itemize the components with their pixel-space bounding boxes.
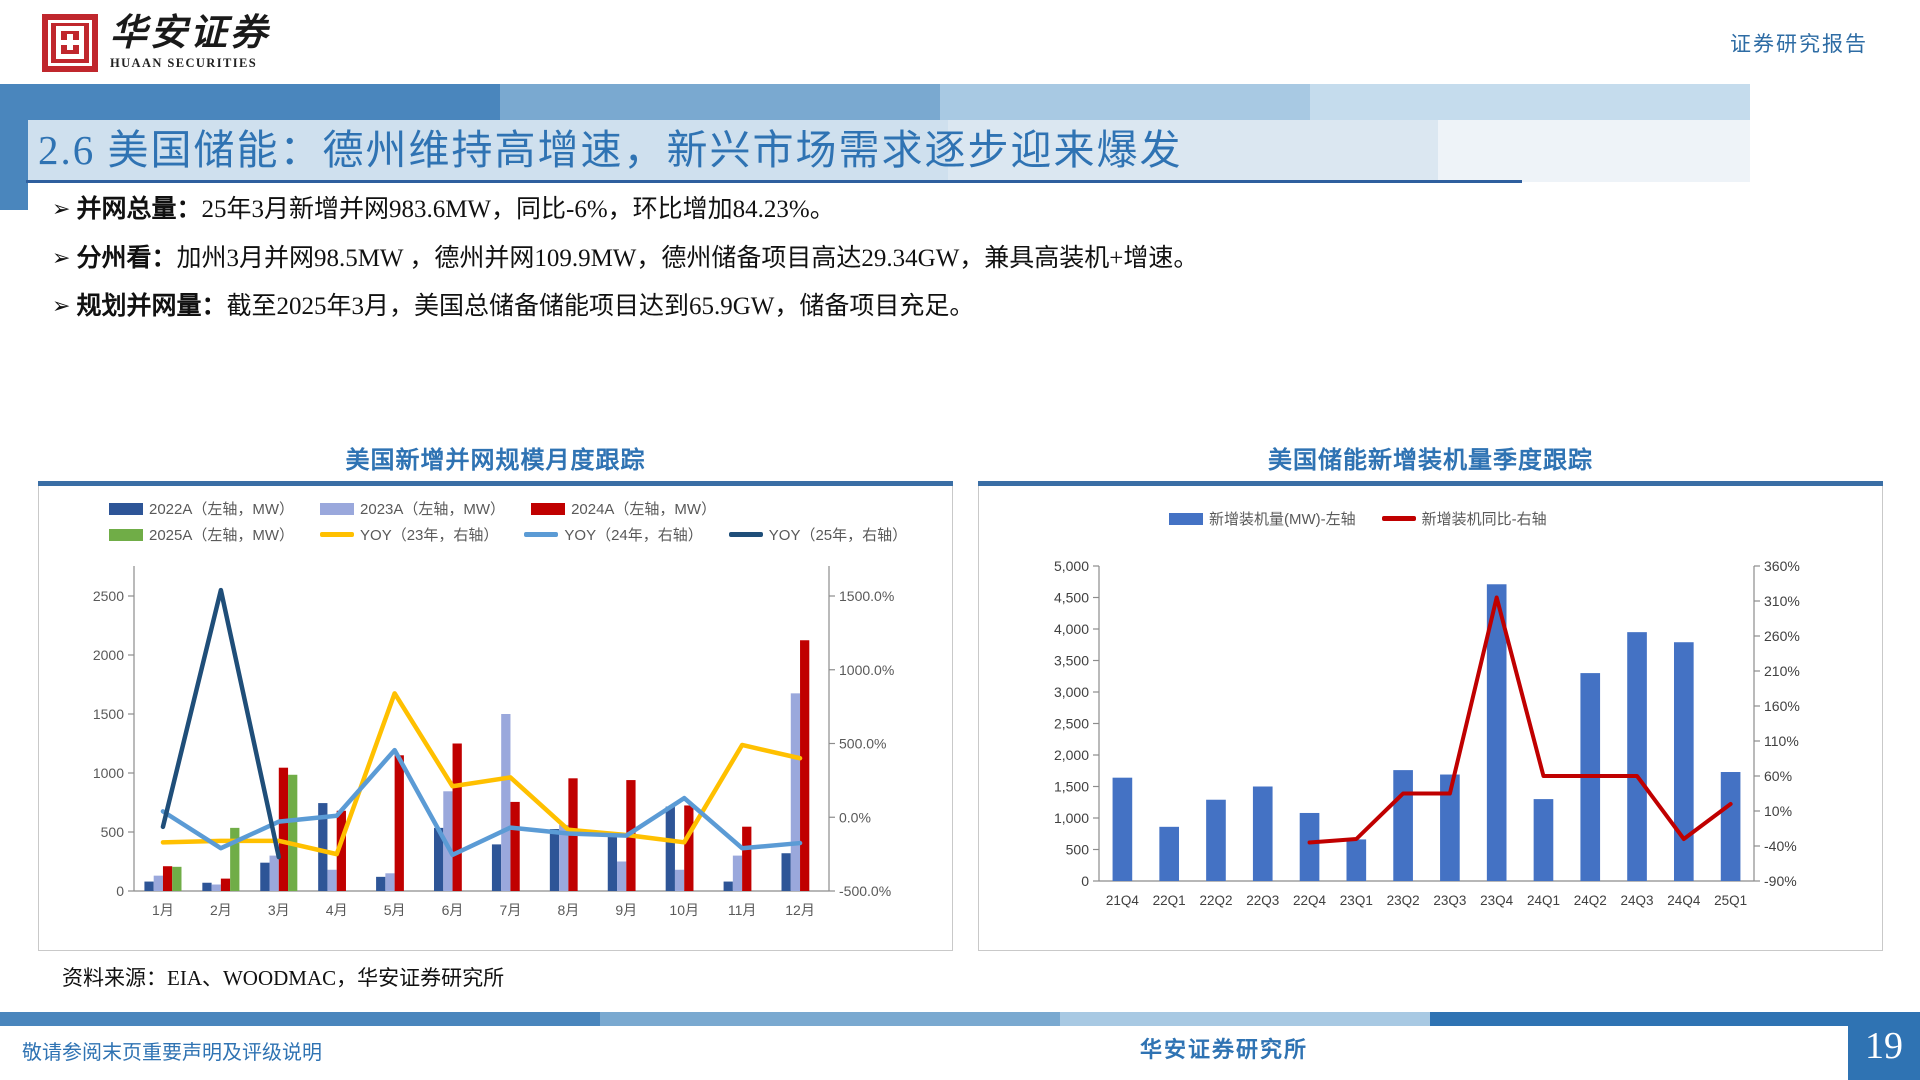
x-tick-label: 21Q4	[1106, 893, 1140, 908]
bar	[1674, 642, 1694, 881]
bar	[221, 879, 230, 891]
x-tick-label: 11月	[728, 902, 757, 918]
bar	[1721, 772, 1741, 881]
bar	[202, 883, 211, 891]
y2-tick-label: 60%	[1764, 768, 1792, 784]
x-tick-label: 24Q2	[1574, 893, 1607, 908]
bar	[270, 856, 279, 891]
y2-tick-label: -500.0%	[839, 883, 891, 899]
bar	[742, 827, 751, 891]
bar	[385, 873, 394, 891]
y2-tick-label: 110%	[1764, 733, 1799, 749]
bar	[288, 775, 297, 891]
bar	[260, 863, 269, 891]
bullet-text: 25年3月新增并网983.6MW，同比-6%，环比增加84.23%。	[201, 196, 834, 223]
x-tick-label: 22Q2	[1199, 893, 1232, 908]
y-tick-label: 500	[101, 824, 125, 840]
y-tick-label: 1,500	[1054, 779, 1089, 795]
y2-tick-label: 10%	[1764, 803, 1792, 819]
bar	[1206, 800, 1226, 881]
y2-tick-label: 210%	[1764, 663, 1800, 679]
x-tick-label: 22Q3	[1246, 893, 1279, 908]
bar	[230, 828, 239, 891]
bullet-label: 规划并网量：	[76, 293, 226, 320]
bar	[376, 877, 385, 891]
huaan-seal-icon	[42, 14, 98, 72]
bar	[144, 882, 153, 891]
bar	[1300, 813, 1320, 881]
chart-body-monthly: 2022A（左轴，MW）2023A（左轴，MW）2024A（左轴，MW）2025…	[38, 486, 953, 951]
y2-tick-label: -90%	[1764, 873, 1797, 889]
x-tick-label: 8月	[557, 902, 579, 918]
y-tick-label: 2500	[93, 588, 124, 604]
y2-tick-label: 500.0%	[839, 736, 886, 752]
page-number: 19	[1848, 1012, 1920, 1080]
brand-name-en: HUAAN SECURITIES	[110, 56, 270, 71]
bar	[163, 866, 172, 891]
bar	[1534, 799, 1554, 881]
y-tick-label: 2,000	[1054, 747, 1089, 763]
footer-company: 华安证券研究所	[1140, 1032, 1308, 1064]
bar	[791, 693, 800, 891]
y2-tick-label: -40%	[1764, 838, 1797, 854]
y-tick-label: 3,000	[1054, 684, 1089, 700]
bar	[327, 870, 336, 891]
bar	[608, 832, 617, 891]
chart-panel-monthly: 美国新增并网规模月度跟踪 2022A（左轴，MW）2023A（左轴，MW）202…	[38, 440, 953, 951]
chart-body-quarterly: 新增装机量(MW)-左轴新增装机同比-右轴 05001,0001,5002,00…	[978, 486, 1883, 951]
x-tick-label: 7月	[500, 902, 522, 918]
y-tick-label: 1000	[93, 765, 124, 781]
x-tick-label: 22Q4	[1293, 893, 1327, 908]
x-tick-label: 23Q3	[1433, 893, 1466, 908]
bar	[395, 755, 404, 891]
y-tick-label: 0	[1081, 873, 1089, 889]
x-tick-label: 3月	[268, 902, 290, 918]
chart-svg-monthly: 05001000150020002500-500.0%0.0%500.0%100…	[39, 486, 952, 949]
footer-disclaimer: 敬请参阅末页重要声明及评级说明	[22, 1036, 322, 1065]
x-tick-label: 5月	[384, 902, 406, 918]
source-note: 资料来源：EIA、WOODMAC，华安证券研究所	[62, 962, 504, 992]
y2-tick-label: 360%	[1764, 558, 1800, 574]
x-tick-label: 24Q3	[1621, 893, 1654, 908]
bar	[800, 640, 809, 891]
bar	[501, 714, 510, 891]
x-tick-label: 1月	[152, 902, 174, 918]
title-underline	[26, 180, 1522, 183]
arrow-icon: ➢	[52, 291, 70, 321]
y-tick-label: 1,000	[1054, 810, 1089, 826]
x-tick-label: 25Q1	[1714, 893, 1747, 908]
bar	[684, 805, 693, 891]
bar	[172, 867, 181, 891]
bar	[1393, 770, 1413, 881]
y-tick-label: 2,500	[1054, 716, 1089, 732]
y2-tick-label: 160%	[1764, 698, 1800, 714]
bar	[154, 876, 163, 891]
x-tick-label: 6月	[442, 902, 464, 918]
bar	[550, 829, 559, 891]
brand-logo: 华安证券 HUAAN SECURITIES	[42, 14, 270, 72]
bar	[212, 885, 221, 891]
page-title: 2.6 美国储能：德州维持高增速，新兴市场需求逐步迎来爆发	[38, 116, 1183, 176]
x-tick-label: 24Q4	[1667, 893, 1701, 908]
bullet-text: 加州3月并网98.5MW ，德州并网109.9MW，德州储备项目高达29.34G…	[176, 245, 1198, 272]
bullet-label: 分州看：	[76, 245, 176, 272]
bar	[1113, 778, 1133, 881]
footer-bar	[0, 1012, 1920, 1026]
bar	[492, 844, 501, 891]
brand-name-cn: 华安证券	[110, 15, 270, 54]
bar	[453, 744, 462, 892]
bar	[666, 807, 675, 891]
y2-tick-label: 1000.0%	[839, 662, 894, 678]
y-tick-label: 2000	[93, 647, 124, 663]
y-tick-label: 5,000	[1054, 558, 1089, 574]
bullet-list: ➢ 并网总量：25年3月新增并网983.6MW，同比-6%，环比增加84.23%…	[52, 194, 1752, 340]
x-tick-label: 23Q4	[1480, 893, 1514, 908]
bar	[1627, 632, 1647, 881]
x-tick-label: 23Q1	[1340, 893, 1373, 908]
x-tick-label: 9月	[615, 902, 637, 918]
y-tick-label: 3,500	[1054, 653, 1089, 669]
y-tick-label: 500	[1066, 842, 1090, 858]
chart-title-monthly: 美国新增并网规模月度跟踪	[38, 440, 953, 475]
x-tick-label: 24Q1	[1527, 893, 1560, 908]
y-tick-label: 1500	[93, 706, 124, 722]
y2-tick-label: 310%	[1764, 593, 1800, 609]
x-tick-label: 10月	[669, 902, 699, 918]
y-tick-label: 4,500	[1054, 590, 1089, 606]
bar	[733, 856, 742, 891]
bar	[724, 882, 733, 891]
chart-svg-quarterly: 05001,0001,5002,0002,5003,0003,5004,0004…	[979, 486, 1882, 949]
bullet-label: 并网总量：	[76, 196, 201, 223]
bar	[1253, 787, 1273, 882]
bar	[617, 862, 626, 892]
bar	[279, 768, 288, 891]
bullet-item: ➢ 规划并网量：截至2025年3月，美国总储备储能项目达到65.9GW，储备项目…	[52, 291, 1752, 324]
report-tag: 证券研究报告	[1730, 28, 1868, 58]
y2-tick-label: 1500.0%	[839, 588, 894, 604]
x-tick-label: 12月	[785, 902, 815, 918]
bar	[675, 870, 684, 891]
x-tick-label: 4月	[326, 902, 348, 918]
chart-title-quarterly: 美国储能新增装机量季度跟踪	[978, 440, 1883, 475]
bar	[510, 802, 519, 891]
line-series	[163, 590, 279, 857]
bar	[1159, 827, 1179, 881]
line-series	[1310, 598, 1731, 843]
x-tick-label: 23Q2	[1387, 893, 1420, 908]
bullet-item: ➢ 分州看：加州3月并网98.5MW ，德州并网109.9MW，德州储备项目高达…	[52, 243, 1752, 276]
chart-panel-quarterly: 美国储能新增装机量季度跟踪 新增装机量(MW)-左轴新增装机同比-右轴 0500…	[978, 440, 1883, 951]
x-tick-label: 22Q1	[1153, 893, 1186, 908]
bullet-text: 截至2025年3月，美国总储备储能项目达到65.9GW，储备项目充足。	[226, 293, 974, 320]
arrow-icon: ➢	[52, 194, 70, 224]
bar	[1346, 839, 1366, 881]
y-tick-label: 0	[116, 883, 124, 899]
y-tick-label: 4,000	[1054, 621, 1089, 637]
bullet-item: ➢ 并网总量：25年3月新增并网983.6MW，同比-6%，环比增加84.23%…	[52, 194, 1752, 227]
y2-tick-label: 260%	[1764, 628, 1800, 644]
arrow-icon: ➢	[52, 243, 70, 273]
bar	[782, 853, 791, 891]
y2-tick-label: 0.0%	[839, 809, 871, 825]
x-tick-label: 2月	[210, 902, 232, 918]
